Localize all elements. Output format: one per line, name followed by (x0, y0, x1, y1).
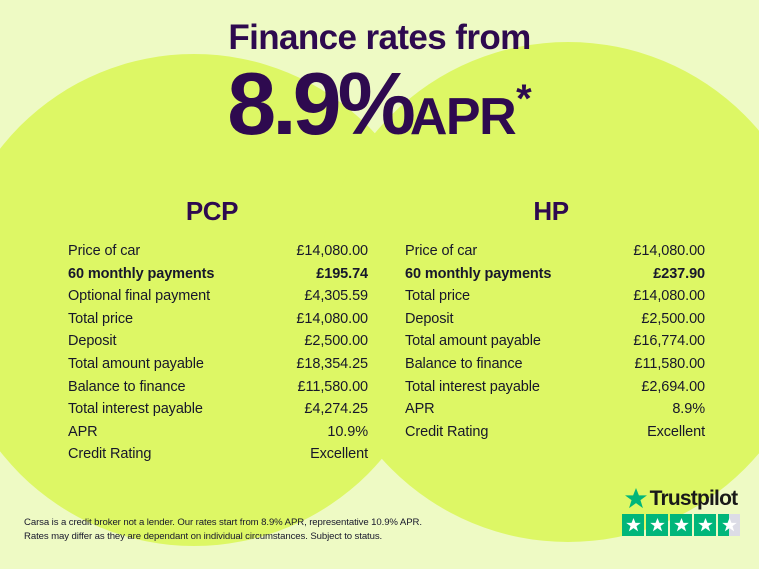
table-row: Total interest payable£2,694.00 (405, 379, 705, 402)
row-value: £237.90 (653, 266, 705, 282)
table-row: Balance to finance£11,580.00 (405, 356, 705, 379)
trustpilot-star-full (670, 514, 692, 536)
row-value: £14,080.00 (296, 311, 368, 327)
table-row: Deposit£2,500.00 (405, 311, 705, 334)
headline-asterisk: * (516, 79, 532, 119)
row-label: 60 monthly payments (405, 266, 551, 282)
plan-pcp-title: PCP (68, 196, 368, 227)
trustpilot-wordmark: Trustpilot (620, 488, 742, 509)
row-value: £16,774.00 (633, 333, 705, 349)
row-value: Excellent (310, 446, 368, 462)
table-row: Total interest payable£4,274.25 (68, 401, 368, 424)
table-row: Price of car£14,080.00 (68, 243, 368, 266)
row-value: Excellent (647, 424, 705, 440)
row-label: APR (68, 424, 98, 440)
row-label: Optional final payment (68, 288, 210, 304)
row-value: £4,305.59 (304, 288, 368, 304)
row-value: £14,080.00 (633, 243, 705, 259)
trustpilot-star-icon (625, 488, 647, 509)
row-value: £2,694.00 (641, 379, 705, 395)
table-row: Total amount payable£18,354.25 (68, 356, 368, 379)
plan-pcp: PCP Price of car£14,080.0060 monthly pay… (68, 196, 368, 469)
headline-title: Finance rates from (0, 18, 759, 58)
headline-block: Finance rates from 8.9% APR * (0, 18, 759, 148)
table-row: 60 monthly payments£195.74 (68, 266, 368, 289)
trustpilot-wordmark-text: Trustpilot (650, 488, 738, 509)
row-value: £18,354.25 (296, 356, 368, 372)
plan-hp-rows: Price of car£14,080.0060 monthly payment… (405, 243, 705, 446)
row-label: Balance to finance (405, 356, 523, 372)
table-row: Total price£14,080.00 (68, 311, 368, 334)
row-value: £4,274.25 (304, 401, 368, 417)
trustpilot-star-full (646, 514, 668, 536)
row-label: Total interest payable (68, 401, 203, 417)
table-row: Credit RatingExcellent (405, 424, 705, 447)
row-label: Price of car (405, 243, 477, 259)
table-row: Total amount payable£16,774.00 (405, 333, 705, 356)
row-label: APR (405, 401, 435, 417)
row-value: 8.9% (672, 401, 705, 417)
trustpilot-star-half (718, 514, 740, 536)
row-label: Price of car (68, 243, 140, 259)
headline-rate-value: 8.9% (227, 60, 412, 148)
row-value: £2,500.00 (641, 311, 705, 327)
headline-rate-unit: APR (410, 91, 515, 143)
table-row: Price of car£14,080.00 (405, 243, 705, 266)
trustpilot-rating[interactable]: Trustpilot (620, 488, 742, 536)
plan-hp: HP Price of car£14,080.0060 monthly paym… (405, 196, 705, 446)
table-row: Total price£14,080.00 (405, 288, 705, 311)
table-row: Credit RatingExcellent (68, 446, 368, 469)
table-row: APR8.9% (405, 401, 705, 424)
headline-rate-row: 8.9% APR * (0, 60, 759, 148)
row-label: Deposit (68, 333, 116, 349)
table-row: APR10.9% (68, 424, 368, 447)
trustpilot-star-full (694, 514, 716, 536)
row-value: £11,580.00 (635, 356, 706, 372)
plan-hp-title: HP (405, 196, 705, 227)
row-value: £11,580.00 (298, 379, 369, 395)
table-row: 60 monthly payments£237.90 (405, 266, 705, 289)
row-label: Deposit (405, 311, 453, 327)
trustpilot-star-row (620, 514, 742, 536)
plan-pcp-rows: Price of car£14,080.0060 monthly payment… (68, 243, 368, 469)
row-label: Total price (405, 288, 470, 304)
row-label: 60 monthly payments (68, 266, 214, 282)
row-value: £14,080.00 (633, 288, 705, 304)
row-label: Total price (68, 311, 133, 327)
disclaimer-text: Carsa is a credit broker not a lender. O… (24, 516, 424, 543)
trustpilot-star-full (622, 514, 644, 536)
table-row: Optional final payment£4,305.59 (68, 288, 368, 311)
banner-content: Finance rates from 8.9% APR * PCP Price … (0, 0, 759, 569)
row-label: Credit Rating (68, 446, 151, 462)
row-label: Total amount payable (405, 333, 541, 349)
row-value: £2,500.00 (304, 333, 368, 349)
table-row: Deposit£2,500.00 (68, 333, 368, 356)
row-label: Balance to finance (68, 379, 186, 395)
row-label: Credit Rating (405, 424, 488, 440)
row-value: 10.9% (327, 424, 368, 440)
table-row: Balance to finance£11,580.00 (68, 379, 368, 402)
promo-banner: Finance rates from 8.9% APR * PCP Price … (0, 0, 759, 569)
row-label: Total interest payable (405, 379, 540, 395)
row-value: £195.74 (316, 266, 368, 282)
row-label: Total amount payable (68, 356, 204, 372)
row-value: £14,080.00 (296, 243, 368, 259)
